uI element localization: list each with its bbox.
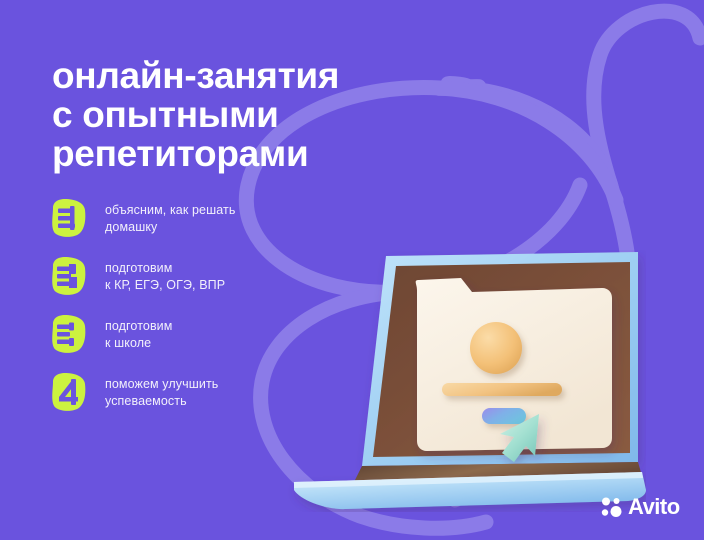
page-title: онлайн-занятия с опытными репетиторами — [52, 56, 482, 173]
number-badge-1 — [47, 198, 87, 238]
laptop-base — [294, 472, 646, 509]
avito-dots-icon — [601, 496, 623, 518]
list-item-label: подготовим к школе — [105, 318, 172, 351]
list-item: объясним, как решать домашку — [47, 198, 337, 256]
number-badge-2 — [47, 256, 87, 296]
number-badge-3 — [47, 314, 87, 354]
list-item-label: поможем улучшить успеваемость — [105, 376, 218, 409]
promo-banner: онлайн-занятия с опытными репетиторами о… — [0, 0, 704, 540]
avito-logo: Avito — [601, 496, 680, 518]
list-item-label: объясним, как решать домашку — [105, 202, 235, 235]
list-item-label: подготовим к КР, ЕГЭ, ОГЭ, ВПР — [105, 260, 225, 293]
orange-sphere — [470, 322, 522, 374]
laptop-illustration — [286, 250, 646, 512]
blue-pill — [482, 408, 526, 424]
number-badge-4 — [47, 372, 87, 412]
avito-logo-text: Avito — [628, 496, 680, 518]
orange-bar — [442, 383, 562, 396]
